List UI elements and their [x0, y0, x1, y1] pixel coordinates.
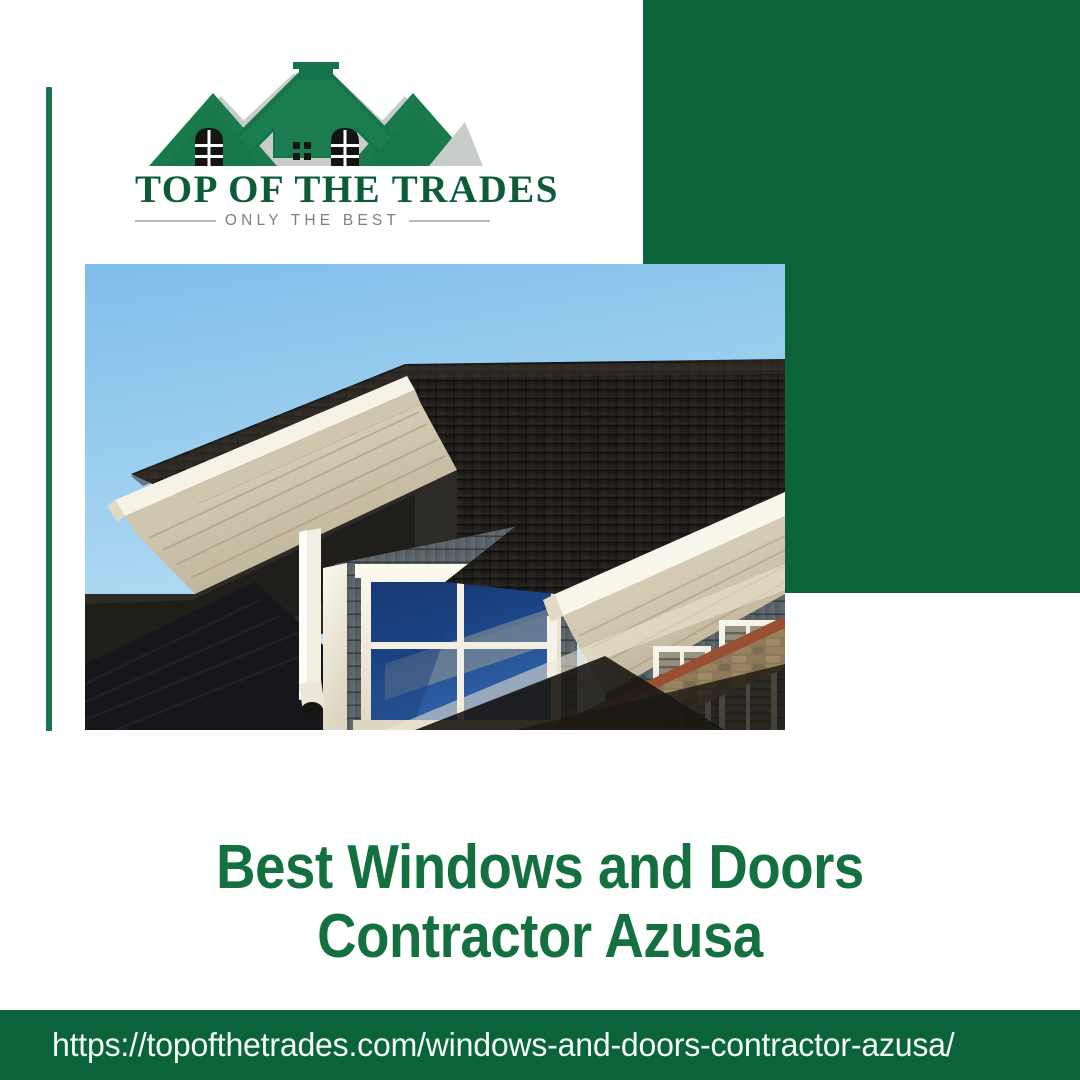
house-roof-icon: [143, 62, 483, 174]
page-title: Best Windows and Doors Contractor Azusa: [65, 833, 1015, 972]
headline-line-1: Best Windows and Doors: [65, 833, 1015, 902]
logo-wordmark: TOP OF THE TRADES: [135, 170, 490, 209]
footer-url-bar: https://topofthetrades.com/windows-and-d…: [0, 1010, 1080, 1080]
headline-line-2: Contractor Azusa: [65, 902, 1015, 971]
hero-photo: [85, 264, 785, 730]
tagline-rule-right: [409, 220, 490, 222]
tagline-rule-left: [135, 220, 216, 222]
logo-tagline-group: ONLY THE BEST: [135, 212, 490, 230]
logo-tagline: ONLY THE BEST: [225, 212, 400, 230]
website-url[interactable]: https://topofthetrades.com/windows-and-d…: [52, 1026, 954, 1064]
brand-logo: TOP OF THE TRADES ONLY THE BEST: [135, 62, 490, 232]
vertical-accent-bar: [46, 87, 52, 731]
poster-canvas: TOP OF THE TRADES ONLY THE BEST: [0, 0, 1080, 1080]
